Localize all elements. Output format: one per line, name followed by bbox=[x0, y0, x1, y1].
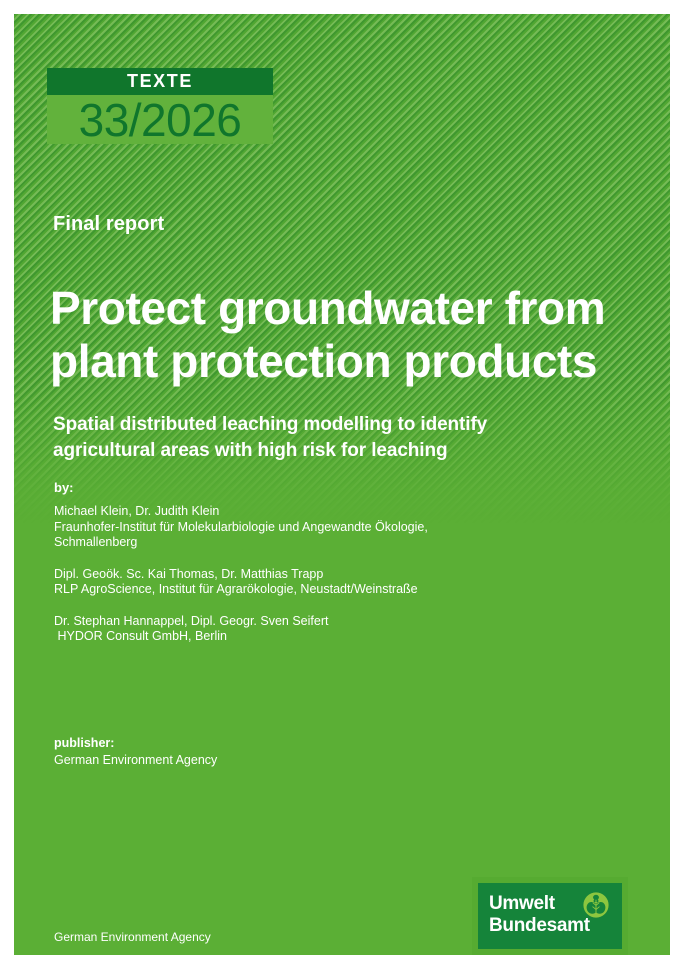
author-group: Michael Klein, Dr. Judith Klein Fraunhof… bbox=[54, 504, 574, 551]
footer-agency-name: German Environment Agency bbox=[54, 930, 211, 945]
cover-green-panel: TEXTE 33/2026 Final report Protect groun… bbox=[14, 14, 670, 955]
page-subtitle: Spatial distributed leaching modelling t… bbox=[53, 412, 593, 464]
issue-number: 33/2026 bbox=[47, 95, 273, 144]
author-affiliation-line: Fraunhofer-Institut für Molekularbiologi… bbox=[54, 520, 574, 536]
author-line: Michael Klein, Dr. Judith Klein bbox=[54, 504, 574, 520]
authors-block: by: Michael Klein, Dr. Judith Klein Frau… bbox=[54, 480, 574, 645]
uba-logo-line-2: Bundesamt bbox=[489, 915, 590, 937]
publisher-label: publisher: bbox=[54, 735, 217, 752]
uba-tree-emblem-icon bbox=[583, 892, 609, 918]
cover-content: TEXTE 33/2026 Final report Protect groun… bbox=[14, 14, 670, 955]
issue-badge-body: 33/2026 bbox=[47, 95, 273, 144]
author-group: Dipl. Geoök. Sc. Kai Thomas, Dr. Matthia… bbox=[54, 567, 574, 598]
uba-logo-line-1: Umwelt bbox=[489, 893, 590, 915]
uba-logo-box: Umwelt Bundesamt bbox=[478, 883, 622, 949]
issue-badge: TEXTE 33/2026 bbox=[47, 68, 273, 144]
cover-page: TEXTE 33/2026 Final report Protect groun… bbox=[0, 0, 685, 972]
page-title: Protect groundwater from plant protectio… bbox=[50, 282, 610, 388]
author-affiliation-line: HYDOR Consult GmbH, Berlin bbox=[54, 629, 574, 645]
series-label: TEXTE bbox=[47, 68, 273, 95]
page-subtitle-line-2: agricultural areas with high risk for le… bbox=[53, 440, 448, 461]
report-kind-label: Final report bbox=[53, 213, 164, 236]
publisher-block: publisher: German Environment Agency bbox=[54, 735, 217, 769]
uba-logo: Umwelt Bundesamt bbox=[472, 877, 628, 955]
author-affiliation-line: Schmallenberg bbox=[54, 535, 574, 551]
authors-label: by: bbox=[54, 480, 574, 495]
uba-logo-wordmark: Umwelt Bundesamt bbox=[489, 893, 590, 937]
author-group: Dr. Stephan Hannappel, Dipl. Geogr. Sven… bbox=[54, 614, 574, 645]
author-line: Dipl. Geoök. Sc. Kai Thomas, Dr. Matthia… bbox=[54, 567, 574, 583]
author-affiliation-line: RLP AgroScience, Institut für Agrarökolo… bbox=[54, 582, 574, 598]
page-subtitle-line-1: Spatial distributed leaching modelling t… bbox=[53, 414, 487, 435]
publisher-name: German Environment Agency bbox=[54, 752, 217, 769]
author-line: Dr. Stephan Hannappel, Dipl. Geogr. Sven… bbox=[54, 614, 574, 630]
